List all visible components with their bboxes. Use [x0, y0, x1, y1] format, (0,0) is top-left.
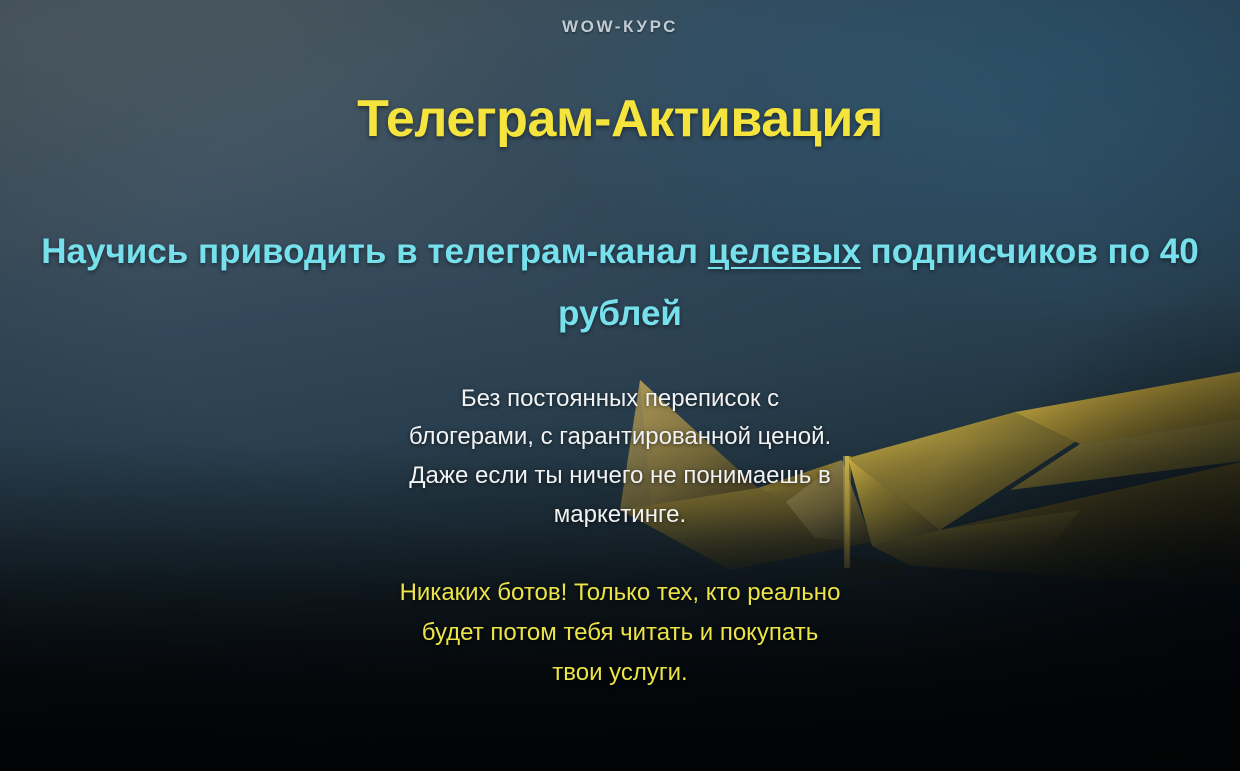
- page-subtitle: Научись приводить в телеграм-канал целев…: [0, 149, 1240, 346]
- accent-line: будет потом тебя читать и покупать: [0, 613, 1240, 653]
- accent-line: Никаких ботов! Только тех, кто реально: [0, 573, 1240, 613]
- accent-line: твои услуги.: [0, 653, 1240, 693]
- page-content: WOW-КУРС Телеграм-Активация Научись прив…: [0, 0, 1240, 771]
- page-title: Телеграм-Активация: [0, 37, 1240, 149]
- landing-page: WOW-КУРС Телеграм-Активация Научись прив…: [0, 0, 1240, 771]
- lead-line: блогерами, с гарантированной ценой.: [0, 418, 1240, 457]
- lead-line: Без постоянных переписок с: [0, 380, 1240, 419]
- lead-line: Даже если ты ничего не понимаешь в: [0, 457, 1240, 496]
- lead-paragraph: Без постоянных переписок с блогерами, с …: [0, 346, 1240, 536]
- brand-label: WOW-КУРС: [0, 0, 1240, 37]
- subtitle-underlined-word: целевых: [708, 232, 861, 271]
- subtitle-text-before: Научись приводить в телеграм-канал: [41, 232, 707, 271]
- lead-line: маркетинге.: [0, 496, 1240, 535]
- accent-paragraph: Никаких ботов! Только тех, кто реально б…: [0, 535, 1240, 692]
